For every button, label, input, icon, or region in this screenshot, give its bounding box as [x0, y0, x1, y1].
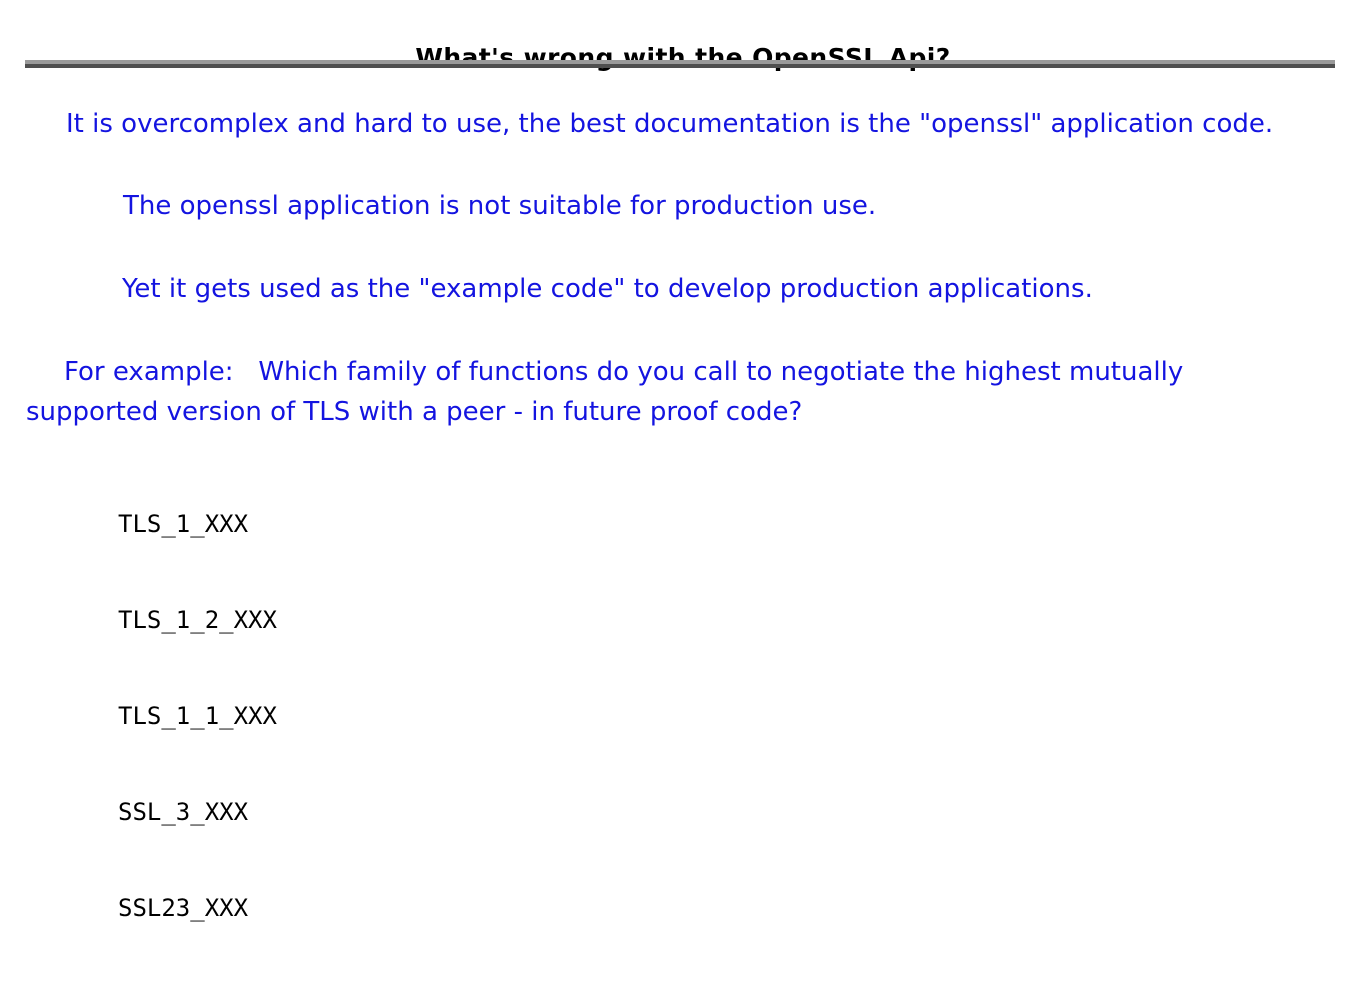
paragraph-question: For example: Which family of functions d… — [26, 352, 1266, 432]
code-list-item: SSL23_XXX — [118, 892, 277, 924]
paragraph-example-code: Yet it gets used as the "example code" t… — [122, 269, 1352, 309]
slide: What's wrong with the OpenSSL Api? It is… — [0, 0, 1366, 768]
divider-bottom-band — [25, 64, 1335, 68]
code-list-item: TLS_1_XXX — [118, 508, 277, 540]
code-list: TLS_1_XXX TLS_1_2_XXX TLS_1_1_XXX SSL_3_… — [118, 444, 277, 988]
code-list-item: TLS_1_2_XXX — [118, 604, 277, 636]
code-list-item: SSL_3_XXX — [118, 796, 277, 828]
code-list-item: TLS_1_1_XXX — [118, 700, 277, 732]
paragraph-intro: It is overcomplex and hard to use, the b… — [66, 104, 1356, 144]
paragraph-not-suitable: The openssl application is not suitable … — [123, 186, 1353, 226]
title-divider — [25, 60, 1335, 68]
